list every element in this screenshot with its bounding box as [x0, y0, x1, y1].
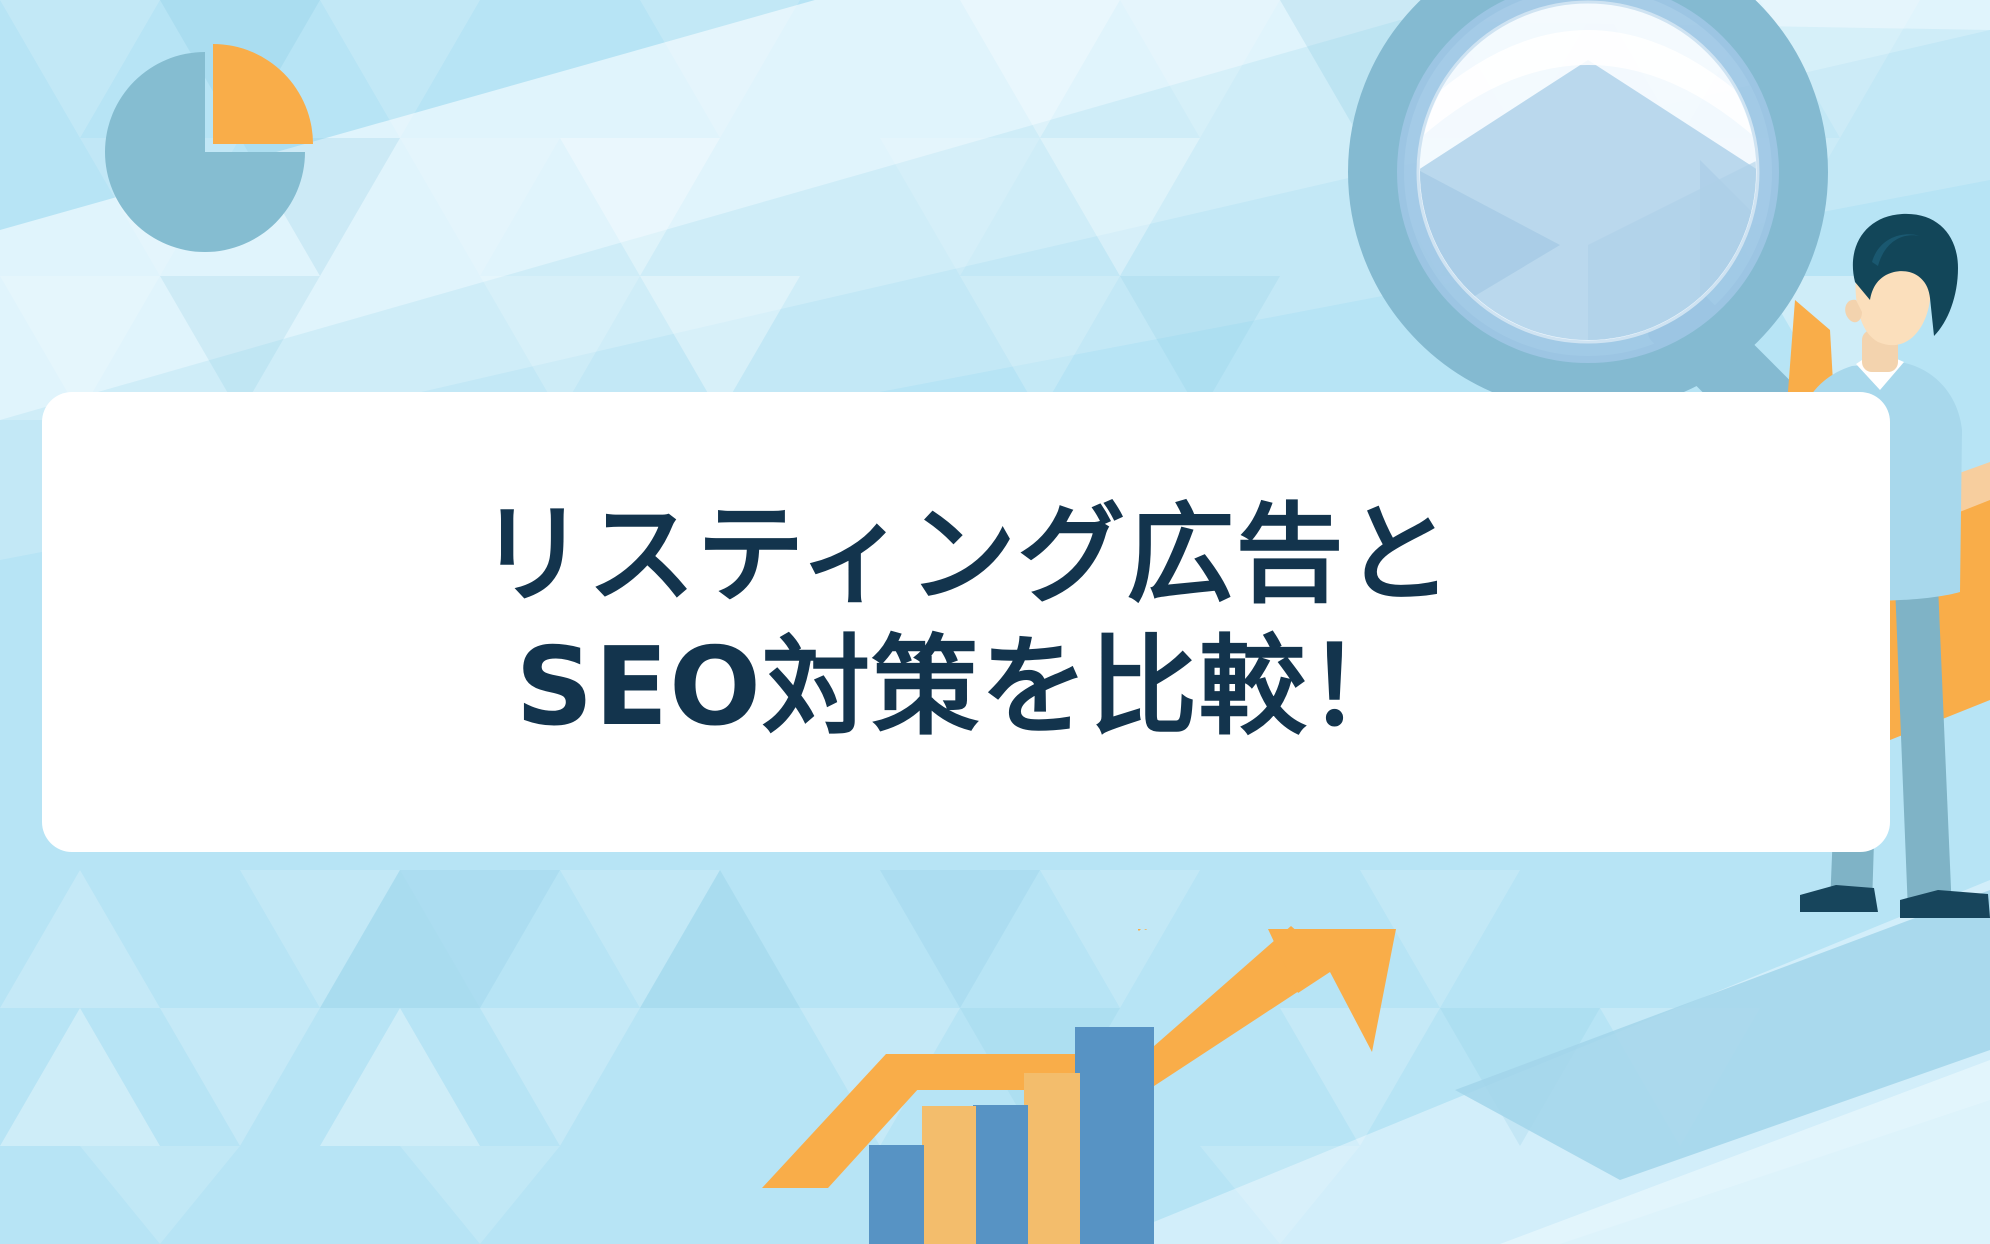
poster-canvas: リスティング広告と SEO対策を比較！ — [0, 0, 1990, 1244]
title-card: リスティング広告と SEO対策を比較！ — [42, 392, 1890, 852]
title-line-2: SEO対策を比較！ — [515, 622, 1416, 754]
title-line-1: リスティング広告と — [478, 490, 1453, 622]
